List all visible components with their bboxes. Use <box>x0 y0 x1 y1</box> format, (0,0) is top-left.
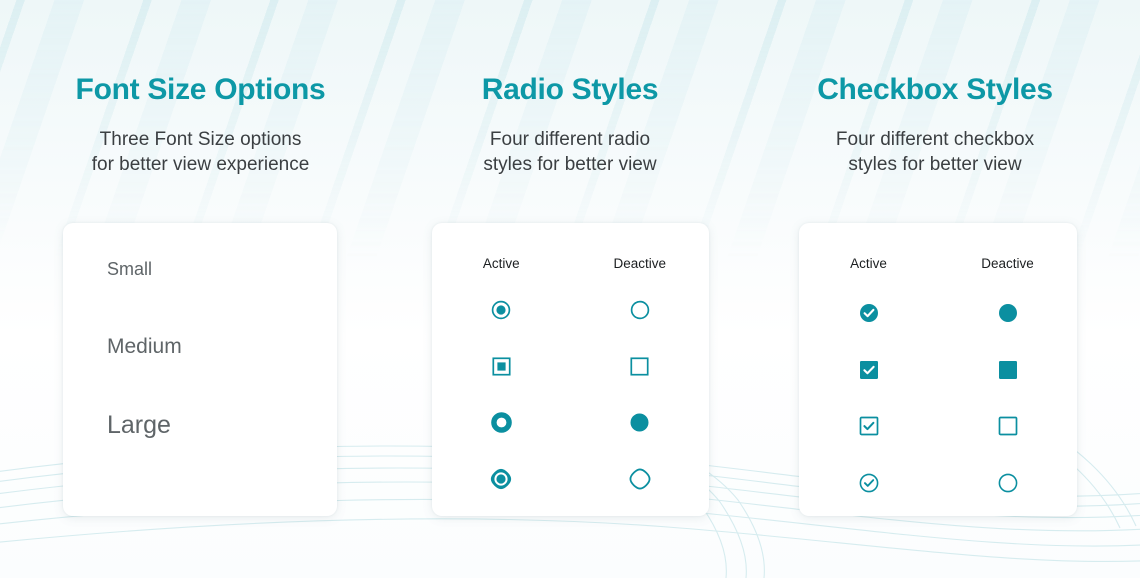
column-radio-styles: Radio Styles Four different radio styles… <box>420 0 720 177</box>
check-square-outline-icon[interactable] <box>799 412 938 440</box>
square-outline-icon[interactable] <box>938 412 1077 440</box>
subtitle-radio-styles: Four different radio styles for better v… <box>420 127 720 177</box>
page-title-font-size: Font Size Options <box>28 75 373 105</box>
column-header-deactive: Deactive <box>938 256 1077 271</box>
page-title-checkbox-styles: Checkbox Styles <box>780 75 1090 105</box>
page-title-radio-styles: Radio Styles <box>420 75 720 105</box>
check-circle-filled-icon[interactable] <box>799 299 938 327</box>
radio-donut-icon[interactable] <box>432 408 571 436</box>
radio-square-filled-icon[interactable] <box>432 352 571 380</box>
column-font-size: Font Size Options Three Font Size option… <box>28 0 373 177</box>
check-square-filled-icon[interactable] <box>799 356 938 384</box>
column-header-active: Active <box>432 256 571 271</box>
circle-filled-icon[interactable] <box>938 299 1077 327</box>
radio-swirl-outline-icon[interactable] <box>571 465 710 493</box>
radio-swirl-filled-icon[interactable] <box>432 465 571 493</box>
column-header-deactive: Deactive <box>571 256 710 271</box>
subtitle-checkbox-styles: Four different checkbox styles for bette… <box>780 127 1090 177</box>
radio-disc-filled-icon[interactable] <box>571 408 710 436</box>
radio-ring-dot-icon[interactable] <box>432 296 571 324</box>
card-checkbox-styles: Active Deactive <box>799 223 1077 516</box>
card-radio-styles: Active Deactive <box>432 223 709 516</box>
font-size-option-medium[interactable]: Medium <box>107 335 182 359</box>
font-size-option-small[interactable]: Small <box>107 259 152 280</box>
column-header-active: Active <box>799 256 938 271</box>
card-font-size-options: Small Medium Large <box>63 223 337 516</box>
radio-square-empty-icon[interactable] <box>571 352 710 380</box>
subtitle-font-size: Three Font Size options for better view … <box>28 127 373 177</box>
square-filled-icon[interactable] <box>938 356 1077 384</box>
column-checkbox-styles: Checkbox Styles Four different checkbox … <box>780 0 1090 177</box>
circle-outline-icon[interactable] <box>938 469 1077 497</box>
check-circle-outline-icon[interactable] <box>799 469 938 497</box>
radio-ring-empty-icon[interactable] <box>571 296 710 324</box>
font-size-option-large[interactable]: Large <box>107 411 171 440</box>
